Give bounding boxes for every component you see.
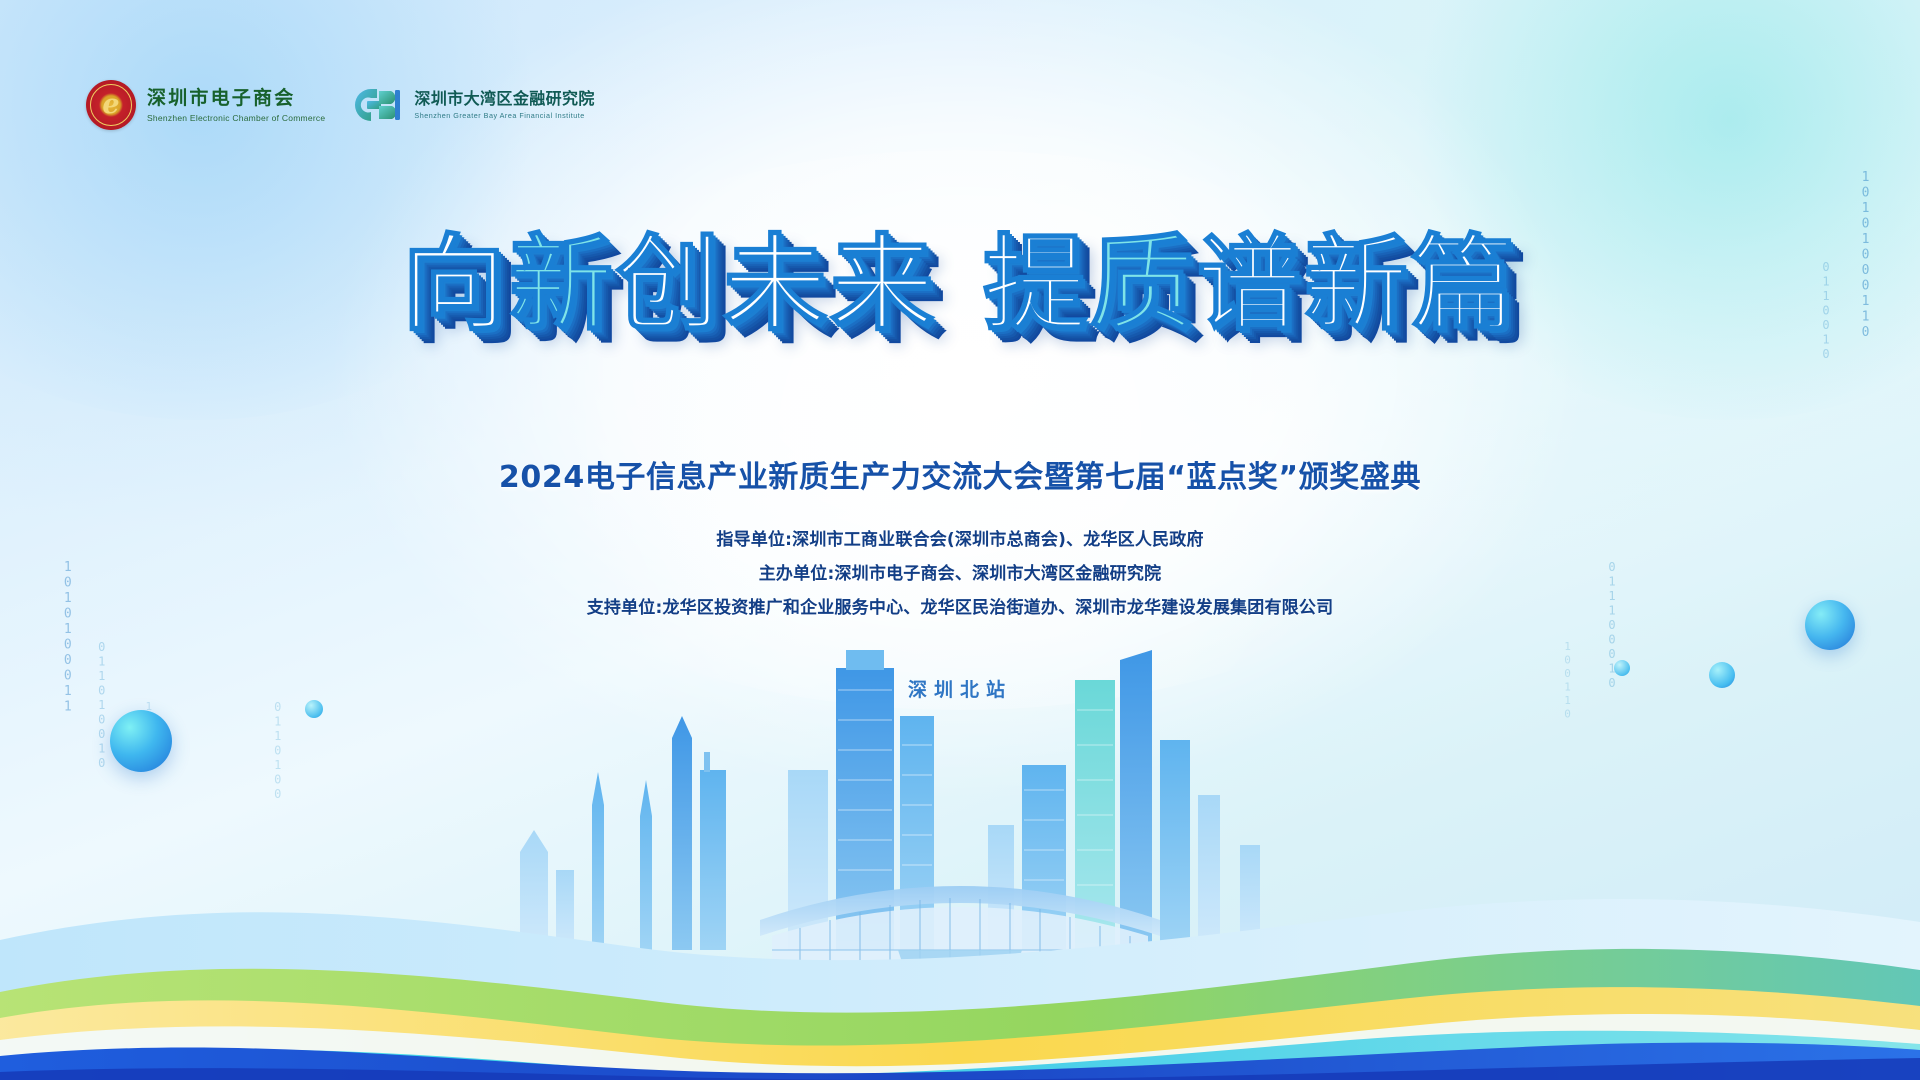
page-title: 向新创未来提质谱新篇 (402, 228, 1518, 340)
logo-name-cn: 深圳市电子商会 (147, 87, 325, 109)
seal-emblem-icon: e (86, 80, 136, 130)
logo-text-block: 深圳市电子商会 Shenzhen Electronic Chamber of C… (147, 87, 325, 123)
organizer-line-host: 主办单位:深圳市电子商会、深圳市大湾区金融研究院 (0, 557, 1920, 591)
logo-name-cn: 深圳市大湾区金融研究院 (414, 90, 594, 109)
title-part-1: 向 (402, 223, 509, 345)
sponsor-logo-bar: e 深圳市电子商会 Shenzhen Electronic Chamber of… (86, 80, 595, 130)
title-part-3: 提 (983, 223, 1090, 345)
title-highlight-zhi: 质 (1090, 223, 1197, 345)
logo-name-en: Shenzhen Electronic Chamber of Commerce (147, 113, 325, 123)
organizer-line-guidance: 指导单位:深圳市工商业联合会(深圳市总商会)、龙华区人民政府 (0, 523, 1920, 557)
poster-canvas: 1010100011 011010010 10010 0110100 10101… (0, 0, 1920, 1080)
logo-name-en: Shenzhen Greater Bay Area Financial Inst… (414, 112, 594, 121)
city-skyline-scene (0, 620, 1920, 1080)
main-title-wrap: 向新创未来提质谱新篇 (0, 228, 1920, 340)
title-part-4: 谱新篇 (1197, 223, 1518, 345)
event-subtitle: 2024电子信息产业新质生产力交流大会暨第七届“蓝点奖”颁奖盛典 (0, 452, 1920, 496)
logo-gba-financial-institute: 深圳市大湾区金融研究院 Shenzhen Greater Bay Area Fi… (351, 85, 594, 125)
background-glow-top-right (1380, 0, 1920, 420)
organizer-block: 指导单位:深圳市工商业联合会(深圳市总商会)、龙华区人民政府 主办单位:深圳市电… (0, 523, 1920, 625)
logo-text-block: 深圳市大湾区金融研究院 Shenzhen Greater Bay Area Fi… (414, 90, 594, 121)
seal-letter-e: e (86, 80, 136, 130)
logo-shenzhen-electronic-chamber: e 深圳市电子商会 Shenzhen Electronic Chamber of… (86, 80, 325, 130)
title-highlight-xin: 新 (509, 223, 616, 345)
title-part-2: 创未来 (616, 223, 937, 345)
background-glow-top-left (0, 0, 580, 420)
gbi-monogram-icon (351, 85, 403, 125)
